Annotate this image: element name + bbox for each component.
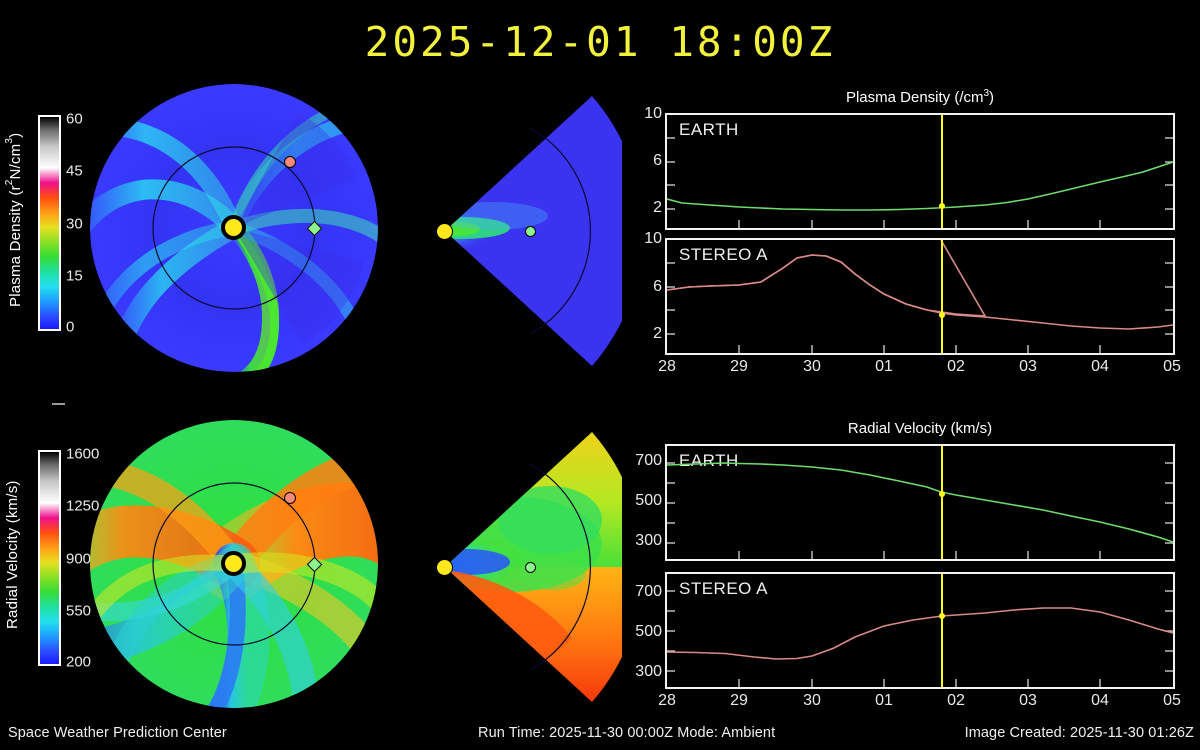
- density-xtick-03: 03: [1019, 358, 1037, 376]
- density-xtick-02: 02: [947, 358, 965, 376]
- velocity-stereo-ytick-700: 700: [612, 583, 662, 601]
- meridional-density-plot: [432, 88, 622, 373]
- meridional-velocity-plot: [432, 424, 622, 709]
- ecliptic-velocity-plot: [88, 418, 380, 710]
- velocity-colorbar-label: Radial Velocity (km/s): [4, 440, 21, 670]
- density-tick-45: 45: [66, 163, 83, 180]
- velocity-xtick-05: 05: [1163, 692, 1181, 710]
- velocity-xtick-29: 29: [730, 692, 748, 710]
- density-stereo-ytick-6: 6: [618, 278, 662, 296]
- density-tick-30: 30: [66, 216, 83, 233]
- sun-marker-meridional: [436, 223, 453, 240]
- density-xtick-28: 28: [658, 358, 676, 376]
- density-stereo-a-panel[interactable]: STEREO A: [665, 238, 1175, 355]
- velocity-earth-now-line: [941, 446, 943, 559]
- density-xtick-29: 29: [730, 358, 748, 376]
- density-colorbar-label: Plasma Density (r2N/cm3): [4, 105, 24, 335]
- density-tick-0: 0: [66, 319, 74, 336]
- sun-marker-velocity: [221, 551, 246, 576]
- velocity-earth-panel[interactable]: EARTH: [665, 444, 1175, 561]
- page-title: 2025-12-01 18:00Z: [0, 18, 1200, 66]
- velocity-timeseries-title: Radial Velocity (km/s): [665, 420, 1175, 437]
- density-tick-15: 15: [66, 268, 83, 285]
- density-xtick-05: 05: [1163, 358, 1181, 376]
- velocity-stereo-a-now-line: [941, 574, 943, 687]
- velocity-xtick-03: 03: [1019, 692, 1037, 710]
- density-earth-now-dot: [939, 203, 945, 209]
- density-tick-60: 60: [66, 111, 83, 128]
- velocity-stereo-a-panel[interactable]: STEREO A: [665, 572, 1175, 689]
- density-xtick-04: 04: [1091, 358, 1109, 376]
- footer-organization: Space Weather Prediction Center: [8, 725, 227, 741]
- velocity-stereo-a-curve: [667, 574, 1173, 687]
- earth-marker-meridional-velocity: [525, 562, 536, 573]
- density-timeseries-title: Plasma Density (/cm3): [665, 88, 1175, 106]
- density-earth-now-line: [941, 115, 943, 228]
- stereo-a-marker: [284, 156, 296, 168]
- scale-dash: [52, 403, 65, 405]
- velocity-colorbar-strip: [38, 450, 61, 666]
- velocity-xtick-02: 02: [947, 692, 965, 710]
- velocity-earth-ytick-700: 700: [612, 452, 662, 470]
- density-earth-ytick-10: 10: [618, 105, 662, 123]
- velocity-earth-now-dot: [939, 491, 945, 497]
- density-xtick-01: 01: [875, 358, 893, 376]
- velocity-xtick-28: 28: [658, 692, 676, 710]
- footer-image-created: Image Created: 2025-11-30 01:26Z: [965, 725, 1194, 741]
- density-colorbar-strip: [38, 115, 61, 331]
- velocity-xtick-30: 30: [803, 692, 821, 710]
- density-earth-curve: [667, 115, 1173, 228]
- density-earth-ytick-2: 2: [618, 199, 662, 217]
- density-stereo-a-now-line: [941, 240, 943, 353]
- velocity-stereo-a-line: [667, 608, 1173, 659]
- density-earth-line: [667, 162, 1173, 210]
- density-stereo-a-now-dot: [939, 312, 945, 318]
- density-stereo-a-line: [667, 240, 985, 316]
- density-stereo-a-curve: [667, 240, 1173, 353]
- density-earth-panel[interactable]: EARTH: [665, 113, 1175, 230]
- velocity-stereo-ytick-500: 500: [612, 623, 662, 641]
- sun-marker: [221, 215, 246, 240]
- velocity-earth-curve: [667, 446, 1173, 559]
- velocity-earth-ytick-500: 500: [612, 492, 662, 510]
- velocity-stereo-a-now-dot: [939, 613, 945, 619]
- footer-run-time: Run Time: 2025-11-30 00:00Z Mode: Ambien…: [478, 725, 775, 741]
- ecliptic-density-plot: [88, 82, 380, 374]
- sun-marker-meridional-velocity: [436, 559, 453, 576]
- density-stereo-ytick-10: 10: [618, 230, 662, 248]
- velocity-xtick-01: 01: [875, 692, 893, 710]
- density-xtick-30: 30: [803, 358, 821, 376]
- velocity-xtick-04: 04: [1091, 692, 1109, 710]
- density-earth-ytick-6: 6: [618, 152, 662, 170]
- stereo-a-marker-velocity: [284, 492, 296, 504]
- velocity-earth-line: [667, 463, 1173, 542]
- velocity-stereo-ytick-300: 300: [612, 663, 662, 681]
- earth-marker-meridional: [525, 226, 536, 237]
- velocity-earth-ytick-300: 300: [612, 532, 662, 550]
- density-stereo-ytick-2: 2: [618, 325, 662, 343]
